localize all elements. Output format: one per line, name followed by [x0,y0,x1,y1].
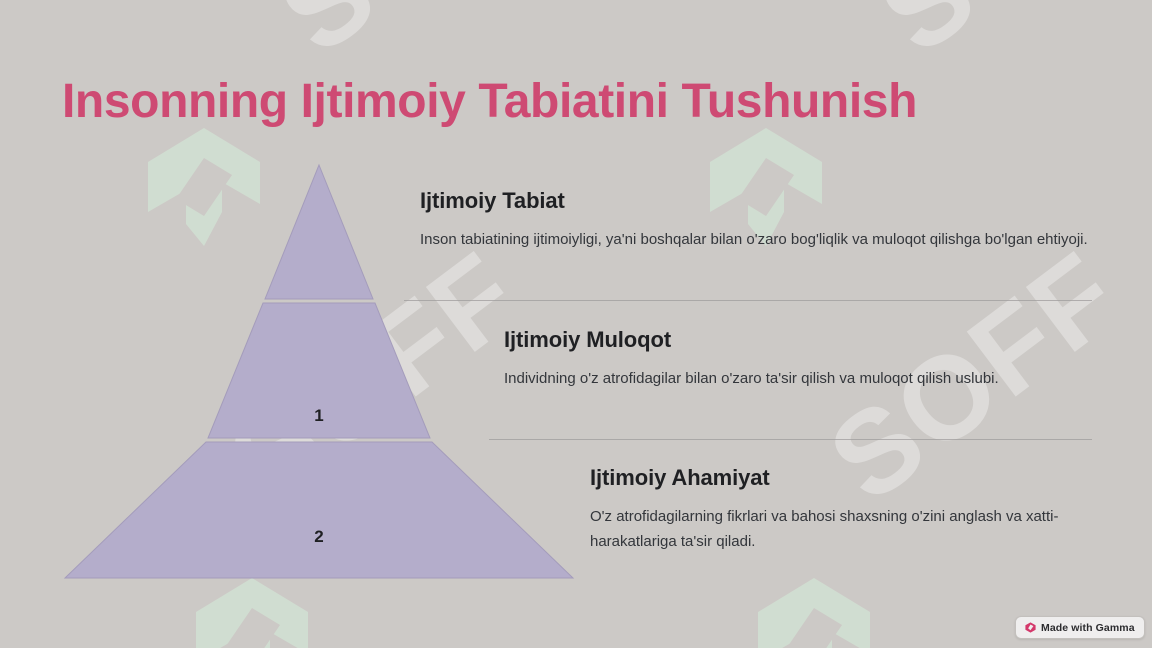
slide-canvas: SOFF SOFF SOFF SOFF Insonning Ijtimoiy T… [0,0,1152,648]
content-row: Ijtimoiy Tabiat Inson tabiatining ijtimo… [420,188,1092,252]
made-with-gamma-badge[interactable]: Made with Gamma [1015,616,1145,639]
content-row: Ijtimoiy Ahamiyat O'z atrofidagilarning … [590,465,1092,554]
row-body: Inson tabiatining ijtimoiyligi, ya'ni bo… [420,227,1092,252]
page-title: Insonning Ijtimoiy Tabiatini Tushunish [62,72,1102,132]
content-row: Ijtimoiy Muloqot Individning o'z atrofid… [504,327,1092,391]
row-title: Ijtimoiy Muloqot [504,327,1092,353]
row-body: Individning o'z atrofidagilar bilan o'za… [504,366,1092,391]
row-title: Ijtimoiy Ahamiyat [590,465,1092,491]
row-body: O'z atrofidagilarning fikrlari va bahosi… [590,504,1092,554]
gamma-logo-icon [1025,622,1036,633]
badge-label: Made with Gamma [1041,622,1135,634]
row-title: Ijtimoiy Tabiat [420,188,1092,214]
